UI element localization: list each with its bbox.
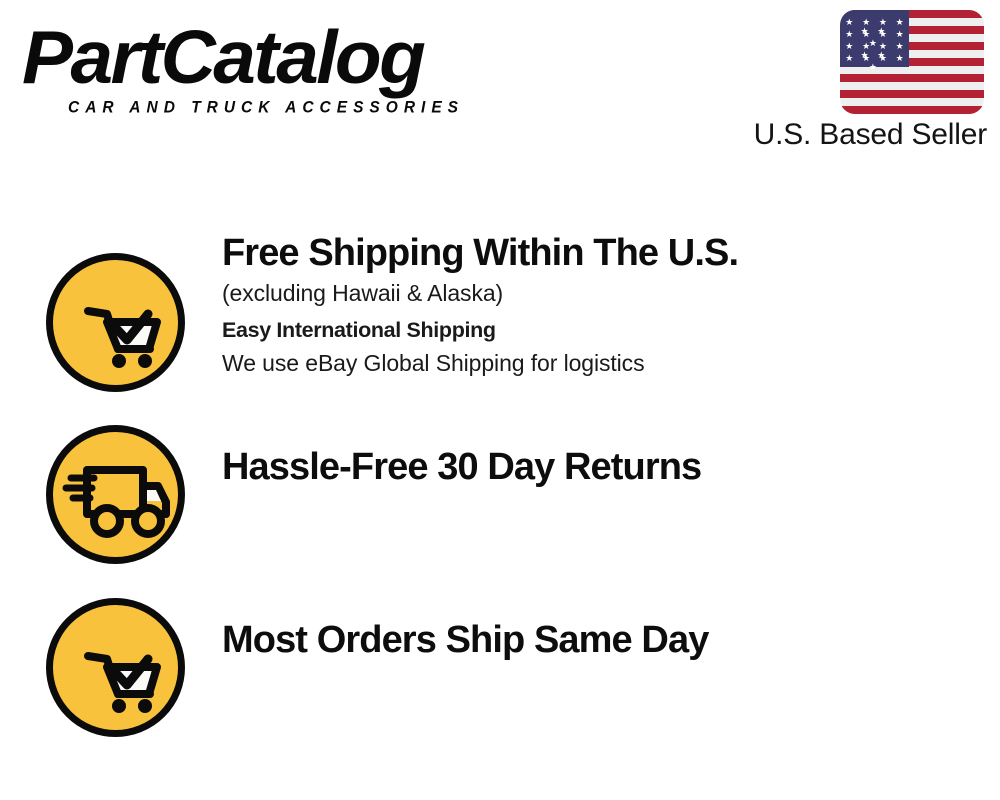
feature-text-block: Hassle-Free 30 Day Returns: [222, 444, 992, 491]
feature-item-returns: Hassle-Free 30 Day Returns: [0, 402, 1000, 562]
shopping-cart-check-icon: [44, 596, 187, 739]
flag-star-row: ★ ★ ★ ★ ★: [840, 54, 909, 72]
flag-stripe: [840, 106, 984, 114]
feature-text-block: Free Shipping Within The U.S. (excluding…: [222, 230, 992, 380]
flag-stripe: [840, 74, 984, 82]
brand-wordmark: PartCatalog: [22, 18, 423, 96]
brand-logo[interactable]: PartCatalog CAR AND TRUCK ACCESSORIES: [22, 18, 492, 118]
us-flag-icon: ★ ★ ★ ★ ★ ★ ★ ★ ★ ★ ★ ★ ★ ★ ★ ★ ★ ★ ★ ★ …: [840, 10, 984, 114]
flag-canton: ★ ★ ★ ★ ★ ★ ★ ★ ★ ★ ★ ★ ★ ★ ★ ★ ★ ★ ★ ★ …: [840, 10, 909, 67]
shopping-cart-check-icon: [44, 251, 187, 394]
brand-tagline: CAR AND TRUCK ACCESSORIES: [68, 99, 464, 118]
feature-item-free-shipping: Free Shipping Within The U.S. (excluding…: [0, 230, 1000, 390]
feature-title: Free Shipping Within The U.S.: [222, 230, 992, 277]
feature-title: Most Orders Ship Same Day: [222, 617, 992, 664]
us-based-seller-label: U.S. Based Seller: [715, 118, 987, 152]
feature-secondary-subtitle: We use eBay Global Shipping for logistic…: [222, 347, 992, 380]
feature-item-same-day-shipping: Most Orders Ship Same Day: [0, 575, 1000, 735]
delivery-truck-icon: [44, 423, 187, 566]
page-header: PartCatalog CAR AND TRUCK ACCESSORIES ★ …: [0, 0, 1000, 175]
us-based-seller-badge: ★ ★ ★ ★ ★ ★ ★ ★ ★ ★ ★ ★ ★ ★ ★ ★ ★ ★ ★ ★ …: [715, 5, 987, 160]
flag-stripe: [840, 90, 984, 98]
feature-title: Hassle-Free 30 Day Returns: [222, 444, 992, 491]
feature-secondary-title: Easy International Shipping: [222, 314, 992, 347]
feature-text-block: Most Orders Ship Same Day: [222, 617, 992, 664]
feature-subtitle: (excluding Hawaii & Alaska): [222, 277, 992, 310]
